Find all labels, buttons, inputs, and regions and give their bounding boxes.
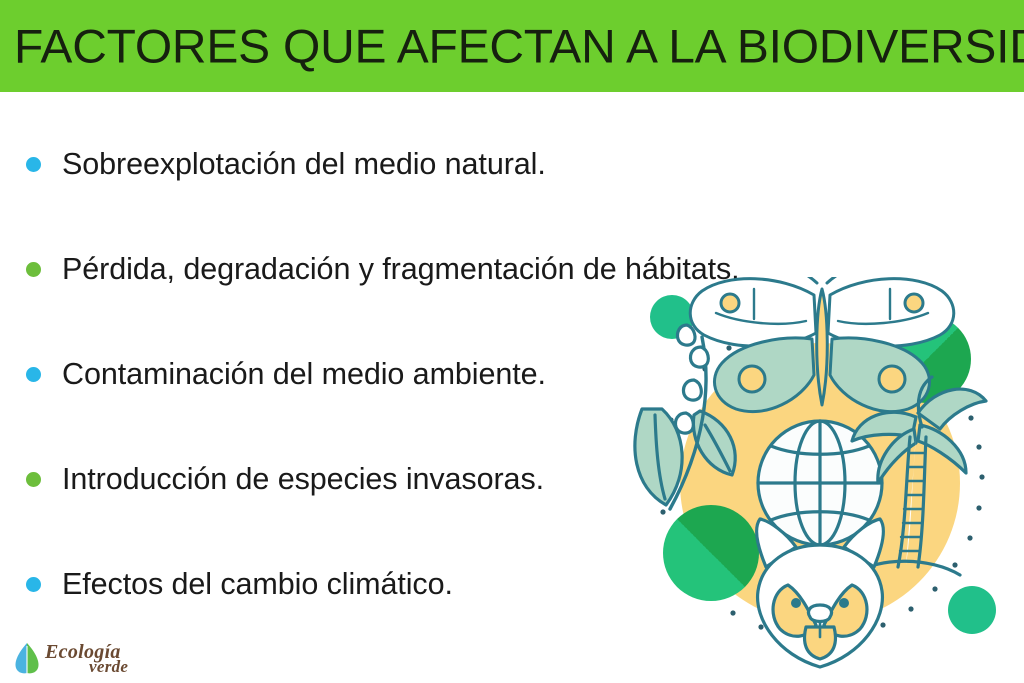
list-item: Sobreexplotación del medio natural. xyxy=(26,142,553,186)
accent-circle-bottom-right xyxy=(948,586,996,634)
bullet-dot-icon xyxy=(26,472,41,487)
bullet-dot-icon xyxy=(26,262,41,277)
page-title: FACTORES QUE AFECTAN A LA BIODIVERSIDAD xyxy=(14,19,1024,74)
list-item-label: Efectos del cambio climático. xyxy=(62,566,453,602)
list-item-label: Contaminación del medio ambiente. xyxy=(62,356,546,392)
logo-wordmark: Ecología verde xyxy=(45,641,163,675)
infographic-page: FACTORES QUE AFECTAN A LA BIODIVERSIDAD … xyxy=(0,0,1024,683)
butterfly-icon xyxy=(690,277,954,412)
list-item: Contaminación del medio ambiente. xyxy=(26,352,553,396)
logo-word-secondary: verde xyxy=(89,657,128,677)
list-item: Efectos del cambio climático. xyxy=(26,562,459,606)
bullet-dot-icon xyxy=(26,367,41,382)
leaf-logo-icon xyxy=(14,642,40,674)
accent-circle-bottom-left xyxy=(663,505,759,601)
bullet-dot-icon xyxy=(26,577,41,592)
header-band: FACTORES QUE AFECTAN A LA BIODIVERSIDAD xyxy=(0,0,1024,92)
factors-list: Sobreexplotación del medio natural. Pérd… xyxy=(0,92,700,622)
list-item-label: Introducción de especies invasoras. xyxy=(62,461,544,497)
ecologia-verde-logo[interactable]: Ecología verde xyxy=(14,640,163,676)
list-item-label: Sobreexplotación del medio natural. xyxy=(62,146,546,182)
biodiversity-illustration xyxy=(620,277,1024,683)
bullet-dot-icon xyxy=(26,157,41,172)
list-item: Introducción de especies invasoras. xyxy=(26,457,551,501)
